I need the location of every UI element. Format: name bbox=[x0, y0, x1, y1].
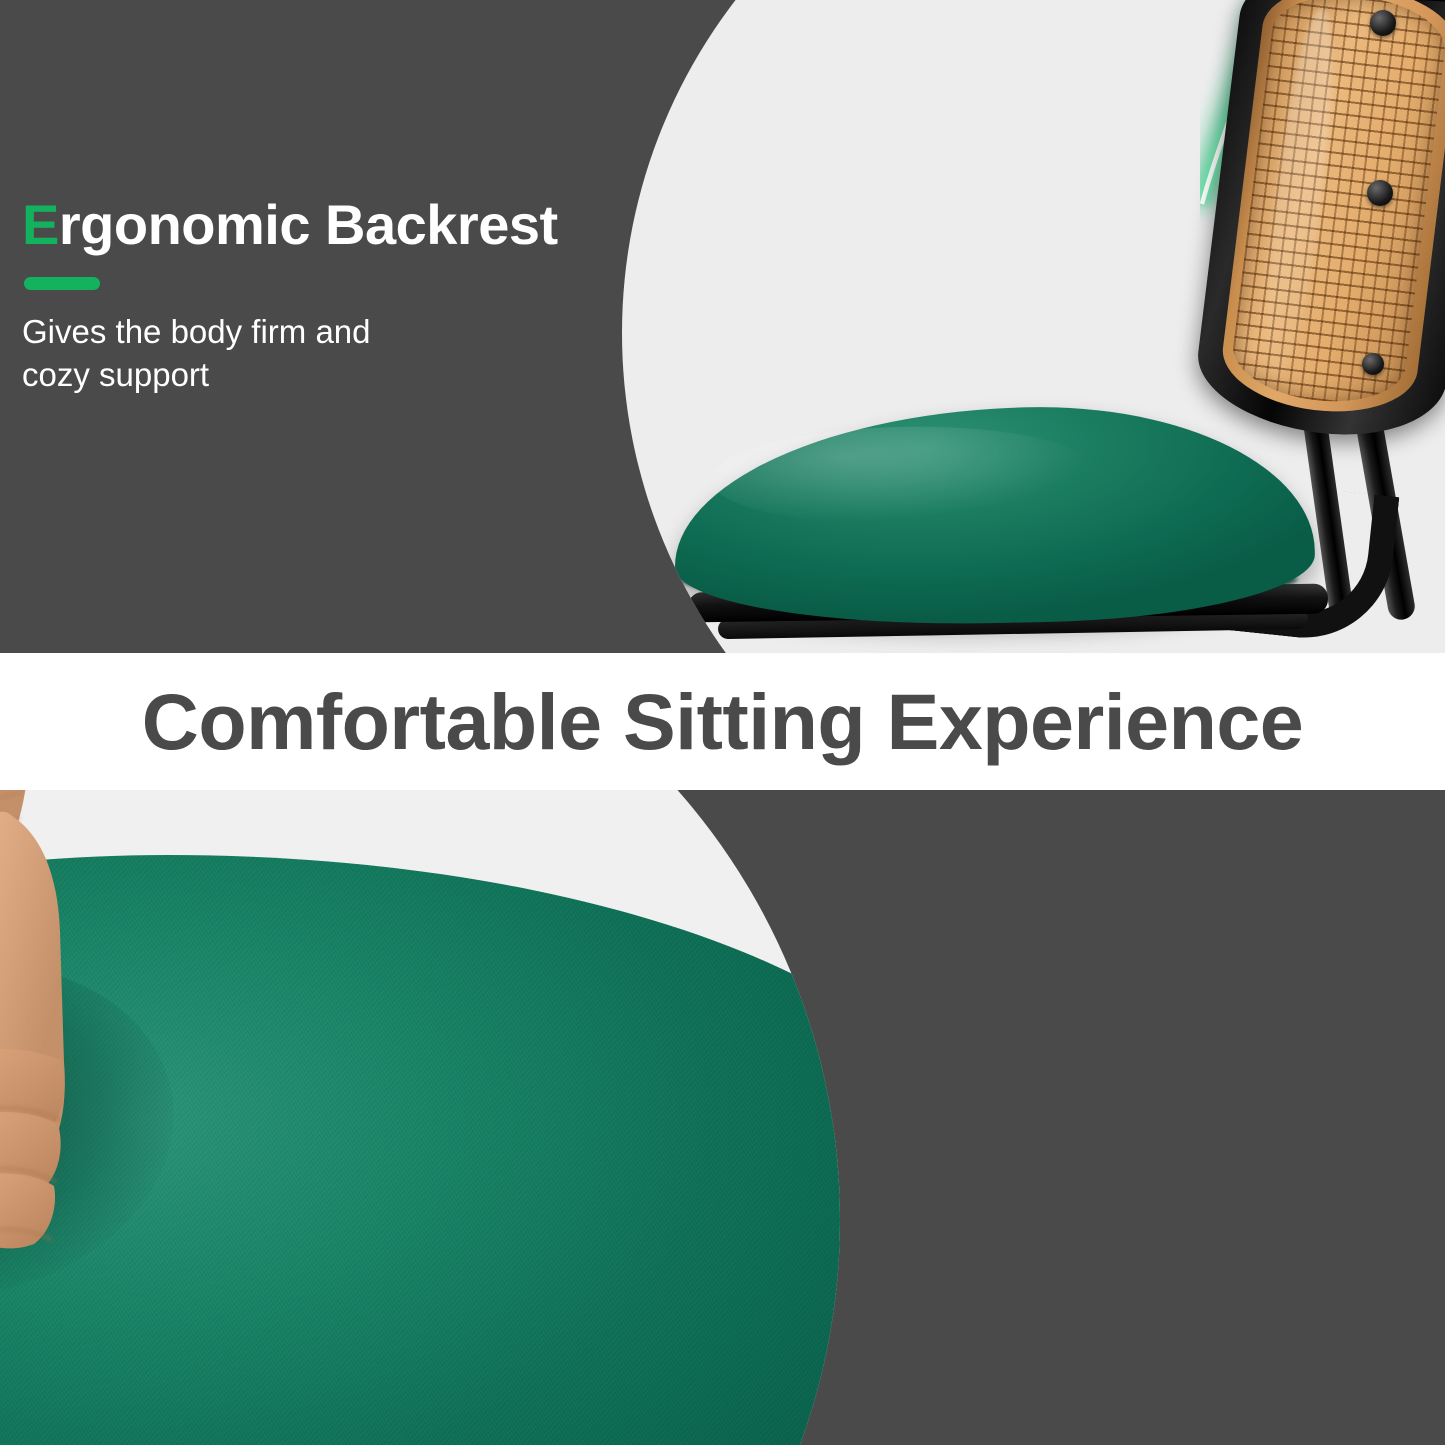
top-headline: Ergonomic Backrest bbox=[22, 196, 662, 255]
fist-pressing-icon bbox=[0, 790, 150, 1280]
top-subcopy: Gives the body firm and cozy support bbox=[22, 310, 662, 397]
top-headline-rest: rgonomic Backrest bbox=[59, 193, 558, 256]
top-feature-panel: Ergonomic Backrest Gives the body firm a… bbox=[0, 0, 1445, 653]
backrest-rivet-icon bbox=[1367, 180, 1393, 206]
top-subcopy-line2: cozy support bbox=[22, 353, 662, 397]
banner-title: Comfortable Sitting Experience bbox=[142, 676, 1303, 768]
top-subcopy-line1: Gives the body firm and bbox=[22, 310, 662, 354]
bottom-feature-panel: Upholstered Seat Padded with 5cm foam bbox=[0, 790, 1445, 1445]
top-headline-initial: E bbox=[22, 193, 59, 256]
center-banner: Comfortable Sitting Experience bbox=[0, 653, 1445, 790]
bottom-product-photo bbox=[0, 790, 840, 1445]
green-seat-cushion bbox=[672, 401, 1316, 629]
top-accent-bar bbox=[24, 277, 100, 290]
product-feature-infographic: Ergonomic Backrest Gives the body firm a… bbox=[0, 0, 1445, 1445]
backrest-rivet-icon bbox=[1362, 353, 1384, 375]
cane-weave-pattern bbox=[1228, 0, 1445, 411]
top-copy-block: Ergonomic Backrest Gives the body firm a… bbox=[22, 196, 662, 397]
backrest-rivet-icon bbox=[1370, 10, 1396, 36]
top-product-photo bbox=[622, 0, 1445, 653]
